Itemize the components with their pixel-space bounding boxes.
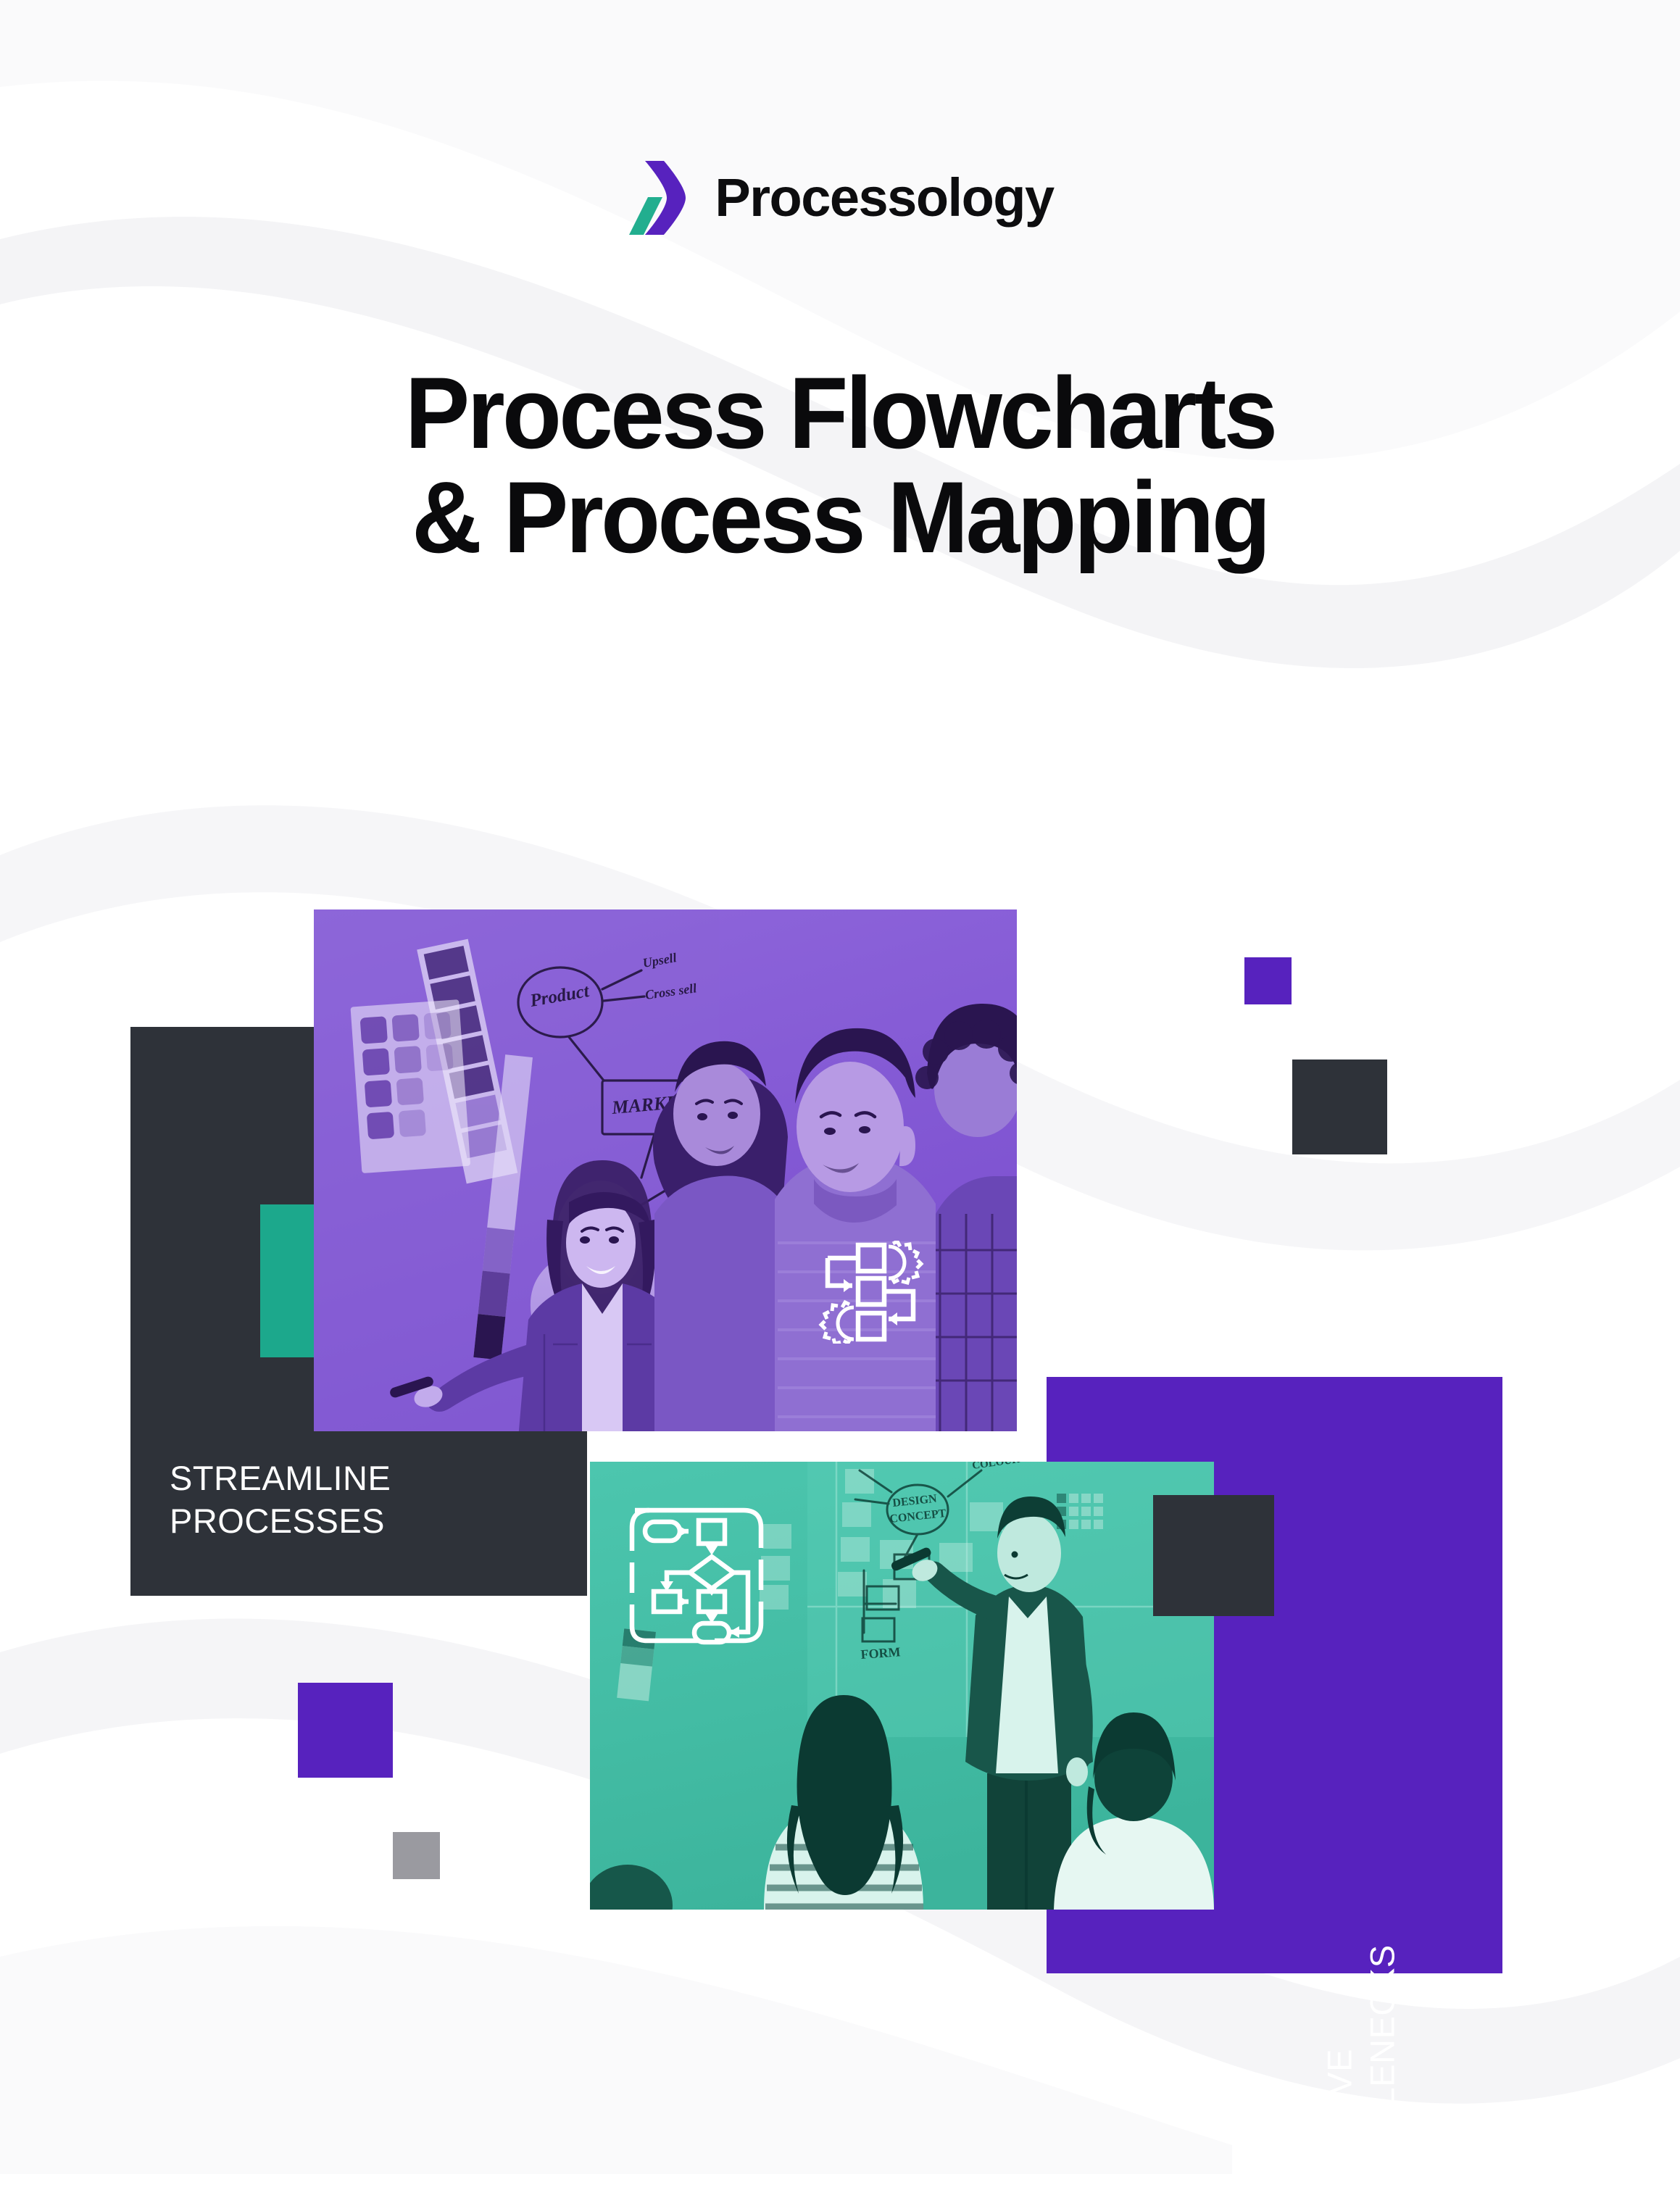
page-title-line-2: & Process Mapping	[33, 465, 1646, 570]
bottlenecks-label-wrap: Remove Bottlenecks	[1379, 1377, 1502, 1973]
bottlenecks-label: Remove Bottlenecks	[1318, 1944, 1403, 2198]
brand-logo: Processology	[0, 158, 1680, 238]
brand-name: Processology	[715, 171, 1053, 225]
photo-team-whiteboard-purple: Product Upsell Cross sell MARKETING Pric…	[314, 909, 1017, 1431]
purple-square-md-accent	[298, 1683, 393, 1778]
svg-text:FORM: FORM	[860, 1644, 901, 1662]
hero-collage: Streamline Processes Remove Bottlenecks	[0, 0, 1680, 2174]
gray-square-sm-accent	[393, 1832, 440, 1879]
photo-workshop-teal: DESIGN CONCEPT FORM COLOUR	[590, 1462, 1214, 1910]
purple-square-sm-accent	[1244, 957, 1292, 1004]
streamline-label: Streamline Processes	[170, 1457, 391, 1542]
dark-square-md-accent	[1292, 1060, 1387, 1154]
page-title: Process Flowcharts & Process Mapping	[0, 361, 1680, 570]
page-title-line-1: Process Flowcharts	[33, 361, 1646, 465]
dark-square-overlay-accent	[1153, 1495, 1274, 1616]
chevron-mark-logo-icon	[626, 158, 696, 238]
